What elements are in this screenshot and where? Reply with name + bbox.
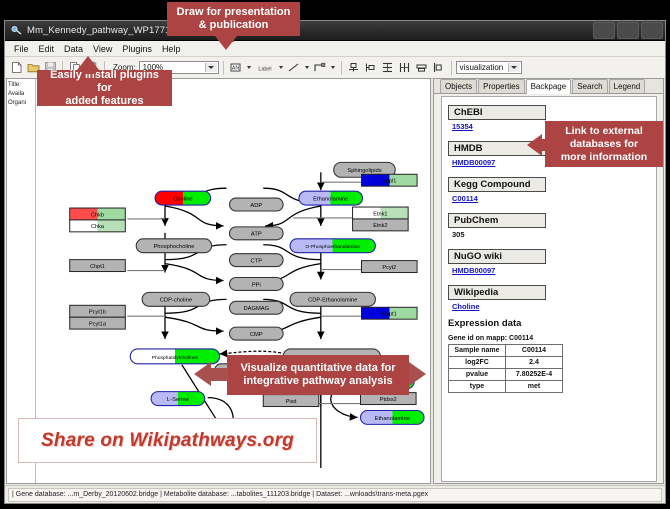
metabolite-node-ctp[interactable]: CTP <box>230 254 284 267</box>
align-left-icon[interactable] <box>363 60 379 76</box>
gene-node-pcyt1a[interactable]: Pcyt1a <box>70 317 126 329</box>
align-top-icon[interactable] <box>346 60 362 76</box>
toolbar-separator-3 <box>223 61 224 75</box>
tab-properties[interactable]: Properties <box>478 79 524 93</box>
chevron-down-icon-2[interactable] <box>508 63 520 72</box>
layer-icon[interactable] <box>431 60 447 76</box>
metabolite-node-dagmag[interactable]: DAGMAG <box>230 301 284 314</box>
metabolite-node-adp[interactable]: ADP <box>230 198 284 211</box>
node-label: DAGMAG <box>244 306 270 312</box>
callout-draw-line2: & publication <box>199 19 269 32</box>
node-label: Pcyt1b <box>89 310 106 316</box>
tab-search[interactable]: Search <box>572 79 607 93</box>
database-header-kegg-compound: Kegg Compound <box>448 177 546 192</box>
expr-value: 7.80252E-4 <box>506 369 563 381</box>
callout-plugins-line2: added features <box>65 95 143 108</box>
node-label: Pisd <box>286 399 297 405</box>
gene-node-etnk1[interactable]: Etnk1 <box>353 207 409 219</box>
menu-item-help[interactable]: Help <box>157 43 186 55</box>
expr-key: log2FC <box>449 357 506 369</box>
node-label: PPi <box>252 282 261 288</box>
node-label: Ethanolamine <box>375 416 410 422</box>
tab-legend[interactable]: Legend <box>609 79 646 93</box>
distribute-horizontal-icon[interactable] <box>397 60 413 76</box>
database-header-chebi: ChEBI <box>448 105 546 120</box>
database-value-nugo-wiki[interactable]: HMDB00097 <box>452 266 650 275</box>
maximize-button[interactable] <box>617 22 639 39</box>
side-panel-tabs[interactable]: ObjectsPropertiesBackpageSearchLegend <box>434 79 663 94</box>
callout-plugins: Easily install plugins for added feature… <box>37 70 172 106</box>
metabolite-node-ppi[interactable]: PPi <box>230 277 284 290</box>
gene-node-pisd[interactable]: Pisd <box>263 395 319 407</box>
expr-key: Sample name <box>449 345 506 357</box>
visualization-combobox[interactable]: visualization <box>456 61 522 74</box>
callout-link: Link to external databases for more info… <box>545 121 663 167</box>
connector-icon[interactable] <box>312 60 328 76</box>
gene-node-pcyt2[interactable]: Pcyt2 <box>362 261 418 273</box>
callout-visualize-stem-left <box>210 368 228 381</box>
minimize-button[interactable] <box>593 22 615 39</box>
table-row: typemet <box>449 381 563 393</box>
menu-item-plugins[interactable]: Plugins <box>117 43 157 55</box>
app-icon <box>10 24 23 37</box>
node-label: L-Serine <box>167 397 189 403</box>
callout-draw-line1: Draw for presentation <box>177 6 291 19</box>
stack-icon[interactable] <box>414 60 430 76</box>
metabolite-node-atp[interactable]: ATP <box>230 227 284 240</box>
metabolite-node-cdp-choline[interactable]: CDP-choline <box>142 292 209 306</box>
metabolite-node-o-phosphoethanolamine[interactable]: O-Phosphoethanolamine <box>290 239 375 253</box>
node-label: Chpt1 <box>90 264 105 270</box>
data-node-dropdown-icon[interactable] <box>245 60 253 76</box>
metabolite-node-ethanolamine-right[interactable]: Ethanolamine <box>361 410 425 424</box>
callout-visualize: Visualize quantitative data for integrat… <box>227 355 409 395</box>
title-bar: Mm_Kennedy_pathway_WP1771_45176.gpml <box>5 21 665 41</box>
table-row: Sample nameC00114 <box>449 345 563 357</box>
callout-share-text: Share on Wikipathways.org <box>41 430 294 452</box>
node-label: Ethanolamine <box>313 196 348 202</box>
gene-id-line: Gene id on mapp: C00114 <box>448 335 650 342</box>
metabolite-node-ethanolamine[interactable]: Ethanolamine <box>299 191 363 205</box>
table-row: pvalue7.80252E-4 <box>449 369 563 381</box>
callout-draw: Draw for presentation & publication <box>167 2 300 36</box>
callout-link-line3: more information <box>561 151 647 164</box>
node-label: CMP <box>250 332 263 338</box>
node-label: CDP-Ethanolamine <box>308 298 357 304</box>
expr-key: pvalue <box>449 369 506 381</box>
tab-objects[interactable]: Objects <box>440 79 477 93</box>
table-row: log2FC2.4 <box>449 357 563 369</box>
new-file-icon[interactable] <box>8 60 24 76</box>
node-label: Phosphatidylcholines <box>152 355 199 361</box>
callout-share: Share on Wikipathways.org <box>18 418 317 463</box>
gene-node-chkb[interactable]: Chkb <box>70 208 126 220</box>
gene-node-chpt1[interactable]: Chpt1 <box>70 260 126 272</box>
toolbar-separator-5 <box>451 61 452 75</box>
database-value-pubchem: 305 <box>452 230 650 239</box>
expression-data-heading: Expression data <box>448 318 650 329</box>
callout-visualize-line1: Visualize quantitative data for <box>240 362 395 375</box>
node-label: Choline <box>173 196 192 202</box>
node-label: O-Phosphoethanolamine <box>305 244 360 250</box>
callout-link-stem <box>541 139 547 151</box>
node-label: ATP <box>251 232 262 238</box>
metabolite-node-phosphocholine[interactable]: Phosphocholine <box>136 239 211 253</box>
svg-text:Label: Label <box>258 66 271 72</box>
status-text: | Gene database: ...m_Derby_20120602.bri… <box>8 488 662 502</box>
toolbar-separator-4 <box>341 61 342 75</box>
database-header-nugo-wiki: NuGO wiki <box>448 249 546 264</box>
callout-draw-stem <box>222 34 234 42</box>
expression-data-table: Sample nameC00114log2FC2.4pvalue7.80252E… <box>448 344 563 393</box>
database-header-pubchem: PubChem <box>448 213 546 228</box>
callout-link-line1: Link to external <box>565 125 643 138</box>
database-value-kegg-compound[interactable]: C00114 <box>452 194 650 203</box>
menu-item-edit[interactable]: Edit <box>34 43 60 55</box>
database-value-wikipedia[interactable]: Choline <box>452 302 650 311</box>
gene-node-cept1[interactable]: Cept1 <box>362 307 418 319</box>
menu-item-file[interactable]: File <box>9 43 34 55</box>
expr-value: met <box>506 381 563 393</box>
node-label: Chkb <box>91 212 104 218</box>
expr-value: C00114 <box>506 345 563 357</box>
gene-node-sgpl1[interactable]: Sgpl1 <box>362 174 418 186</box>
chevron-down-icon[interactable] <box>205 63 217 72</box>
label-icon[interactable]: Label <box>254 60 276 76</box>
distribute-vertical-icon[interactable] <box>380 60 396 76</box>
expr-key: type <box>449 381 506 393</box>
node-label: Etnk1 <box>373 211 387 217</box>
node-label: CTP <box>251 259 263 265</box>
metabolite-node-cmp[interactable]: CMP <box>230 327 284 340</box>
screenshot-root: Mm_Kennedy_pathway_WP1771_45176.gpml Fil… <box>0 0 670 509</box>
window-controls[interactable] <box>593 22 663 39</box>
node-label: Ptdss2 <box>380 397 397 403</box>
meta-availability-label: Availa <box>8 90 34 99</box>
node-label: Etnk2 <box>373 223 387 229</box>
node-label: CDP-choline <box>160 298 192 304</box>
close-button[interactable] <box>641 22 663 39</box>
callout-visualize-arrow-left <box>194 362 211 386</box>
node-label: Sphingolipids <box>347 168 381 174</box>
expr-value: 2.4 <box>506 357 563 369</box>
svg-text:AN: AN <box>232 66 239 72</box>
status-bar: | Gene database: ...m_Derby_20120602.bri… <box>5 485 665 503</box>
callout-link-arrow <box>527 134 542 156</box>
data-node-icon[interactable]: AN <box>228 60 244 76</box>
menu-bar: File Edit Data View Plugins Help <box>5 41 665 57</box>
label-dropdown-icon[interactable] <box>277 60 285 76</box>
callout-visualize-arrow-right <box>409 362 426 386</box>
node-label: Sgpl1 <box>382 179 396 185</box>
node-label: ADP <box>250 203 262 209</box>
line-icon[interactable] <box>286 60 302 76</box>
tab-backpage[interactable]: Backpage <box>526 79 572 94</box>
meta-organism-label: Organi <box>8 99 34 108</box>
callout-visualize-line2: integrative pathway analysis <box>243 375 392 388</box>
metabolite-node-choline-top[interactable]: Choline <box>155 191 211 205</box>
metabolite-node-l-serine-left[interactable]: L-Serine <box>151 392 205 406</box>
gene-node-pcyt1b[interactable]: Pcyt1b <box>70 305 126 317</box>
line-dropdown-icon[interactable] <box>303 60 311 76</box>
node-label: Pcyt2 <box>382 265 396 271</box>
gene-node-chka[interactable]: Chka <box>70 220 126 232</box>
menu-item-view[interactable]: View <box>88 43 117 55</box>
callout-plugins-line1: Easily install plugins for <box>43 69 166 95</box>
node-label: Phosphocholine <box>153 244 194 250</box>
database-header-wikipedia: Wikipedia <box>448 285 546 300</box>
visualization-value: visualization <box>460 63 504 72</box>
menu-item-data[interactable]: Data <box>59 43 88 55</box>
node-label: Cept1 <box>382 312 397 318</box>
node-label: Chka <box>91 224 105 230</box>
node-label: Pcyt1a <box>89 321 107 327</box>
gene-node-etnk2[interactable]: Etnk2 <box>353 219 409 231</box>
callout-plugins-stem <box>84 68 96 74</box>
metabolite-node-cdp-ethanolamine[interactable]: CDP-Ethanolamine <box>290 292 375 306</box>
meta-title-label: Title: <box>8 81 34 90</box>
callout-link-line2: databases for <box>570 138 638 151</box>
connector-dropdown-icon[interactable] <box>329 60 337 76</box>
